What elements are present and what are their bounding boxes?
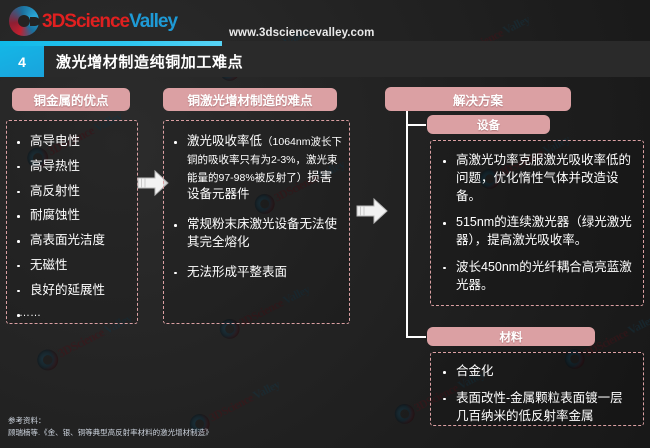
reference-footer: 参考资料： 顾瑞楠等.《金、银、铜等典型高反射率材料的激光增材制造》 [8, 415, 213, 439]
list-item: 无磁性 [13, 257, 133, 275]
right-arrow-icon [355, 196, 389, 226]
list-item: 无法形成平整表面 [170, 264, 342, 282]
site-url[interactable]: www.3dsciencevalley.com [229, 27, 374, 39]
list-item: 常规粉末床激光设备无法使其完全熔化 [170, 216, 342, 252]
equipment-box: 高激光功率克服激光吸收率低的问题，优化惰性气体并改造设备。 515nm的连续激光… [430, 140, 644, 306]
difficulty-lead: 激光吸收率低 [187, 134, 262, 148]
tree-connector-vertical [406, 111, 408, 336]
difficulties-box: 激光吸收率低（1064nm波长下铜的吸收率只有为2-3%，激光束能量的97-98… [163, 120, 350, 324]
advantages-box: 高导电性 高导热性 高反射性 耐腐蚀性 高表面光洁度 无磁性 良好的延展性 …… [6, 120, 138, 324]
watermark-text-1: 3DScience [55, 325, 106, 361]
list-item: 合金化 [439, 363, 635, 381]
slide-number: 4 [0, 46, 44, 77]
swirl-logo-icon [9, 6, 39, 36]
watermark-text-2: Valley [251, 377, 283, 403]
brand-logo-text: 3DScienceValley [42, 12, 177, 31]
logo-text-science: Science [64, 11, 129, 32]
watermark-swirl-icon [391, 401, 418, 428]
reference-label: 参考资料： [8, 415, 213, 427]
logo-text-3d: 3D [42, 11, 64, 32]
list-item: 波长450nm的光纤耦合高亮蓝激光器。 [439, 259, 635, 295]
watermark-swirl-icon [34, 346, 62, 374]
list-item: 高导电性 [13, 133, 133, 151]
watermark-text-1: 3DScience [207, 391, 256, 425]
equipment-pill: 设备 [427, 115, 550, 134]
material-list: 合金化 表面改性-金属颗粒表面镀一层几百纳米的低反射率金属 [439, 363, 635, 425]
list-item: 耐腐蚀性 [13, 207, 133, 225]
solution-pill: 解决方案 [385, 87, 571, 111]
page-header: 3DScienceValley www.3dsciencevalley.com [0, 0, 650, 42]
watermark-text-2: Valley [626, 312, 650, 338]
material-pill: 材料 [427, 327, 595, 346]
list-item: 激光吸收率低（1064nm波长下铜的吸收率只有为2-3%，激光束能量的97-98… [170, 133, 342, 204]
tree-connector-branch-equipment [406, 124, 426, 126]
list-item: 高激光功率克服激光吸收率低的问题，优化惰性气体并改造设备。 [439, 152, 635, 205]
advantages-list: 高导电性 高导热性 高反射性 耐腐蚀性 高表面光洁度 无磁性 良好的延展性 …… [13, 133, 133, 322]
difficulties-list: 激光吸收率低（1064nm波长下铜的吸收率只有为2-3%，激光束能量的97-98… [170, 133, 342, 281]
list-item: 515nm的连续激光器（绿光激光器），提高激光吸收率。 [439, 214, 635, 250]
list-item: 高表面光洁度 [13, 232, 133, 250]
brand-logo: 3DScienceValley [9, 6, 177, 36]
material-box: 合金化 表面改性-金属颗粒表面镀一层几百纳米的低反射率金属 [430, 352, 644, 426]
logo-text-valley: Valley [129, 11, 177, 32]
advantages-pill: 铜金属的优点 [12, 88, 130, 111]
tree-connector-branch-material [406, 336, 426, 338]
list-item: 高导热性 [13, 158, 133, 176]
page-title: 激光增材制造纯铜加工难点 [56, 46, 243, 77]
list-item-ellipsis: …… [13, 306, 133, 322]
equipment-list: 高激光功率克服激光吸收率低的问题，优化惰性气体并改造设备。 515nm的连续激光… [439, 152, 635, 294]
list-item: 高反射性 [13, 183, 133, 201]
slide-canvas: 3DScienceValley 3DScienceValley 3DScienc… [0, 0, 650, 448]
reference-citation: 顾瑞楠等.《金、银、铜等典型高反射率材料的激光增材制造》 [8, 427, 213, 439]
difficulties-pill: 铜激光增材制造的难点 [163, 88, 337, 111]
list-item: 良好的延展性 [13, 282, 133, 300]
list-item: 表面改性-金属颗粒表面镀一层几百纳米的低反射率金属 [439, 390, 635, 426]
